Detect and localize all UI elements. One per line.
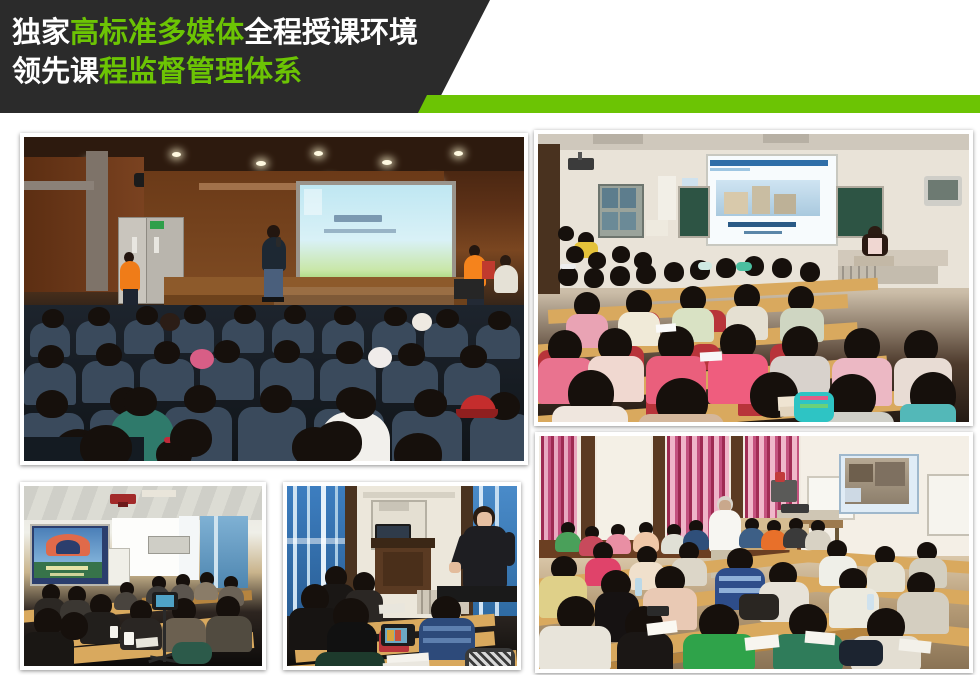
- photo-classroom-full-view-scene: [539, 436, 969, 669]
- banner-line1-part2: 高标准多媒体: [70, 15, 244, 49]
- photo-classroom-full-view[interactable]: [535, 432, 973, 673]
- photo-instructor-teaching-scene: [287, 486, 517, 666]
- banner-title-line-1: 独家高标准多媒体全程授课环境: [12, 13, 482, 52]
- photo-auditorium-large-scene: [24, 137, 524, 461]
- photo-lecture-hall-students-scene: [538, 134, 969, 422]
- banner-line2-part2: 程监督管理体系: [99, 54, 302, 88]
- banner-line1-part1: 独家: [12, 15, 70, 49]
- page-header: 独家高标准多媒体全程授课环境 领先课程监督管理体系: [0, 0, 980, 120]
- banner-line2-part1: 领先课: [12, 54, 99, 88]
- photo-lecture-hall-students[interactable]: [534, 130, 973, 426]
- photo-auditorium-large[interactable]: [20, 133, 528, 465]
- banner-line1-part3: 全程授课环境: [244, 15, 418, 49]
- banner-title: 独家高标准多媒体全程授课环境 领先课程监督管理体系: [12, 13, 482, 91]
- photo-small-classroom-projector-scene: [24, 486, 262, 666]
- photo-small-classroom-projector[interactable]: [20, 482, 266, 670]
- photo-instructor-teaching[interactable]: [283, 482, 521, 670]
- banner-title-line-2: 领先课程监督管理体系: [12, 52, 482, 91]
